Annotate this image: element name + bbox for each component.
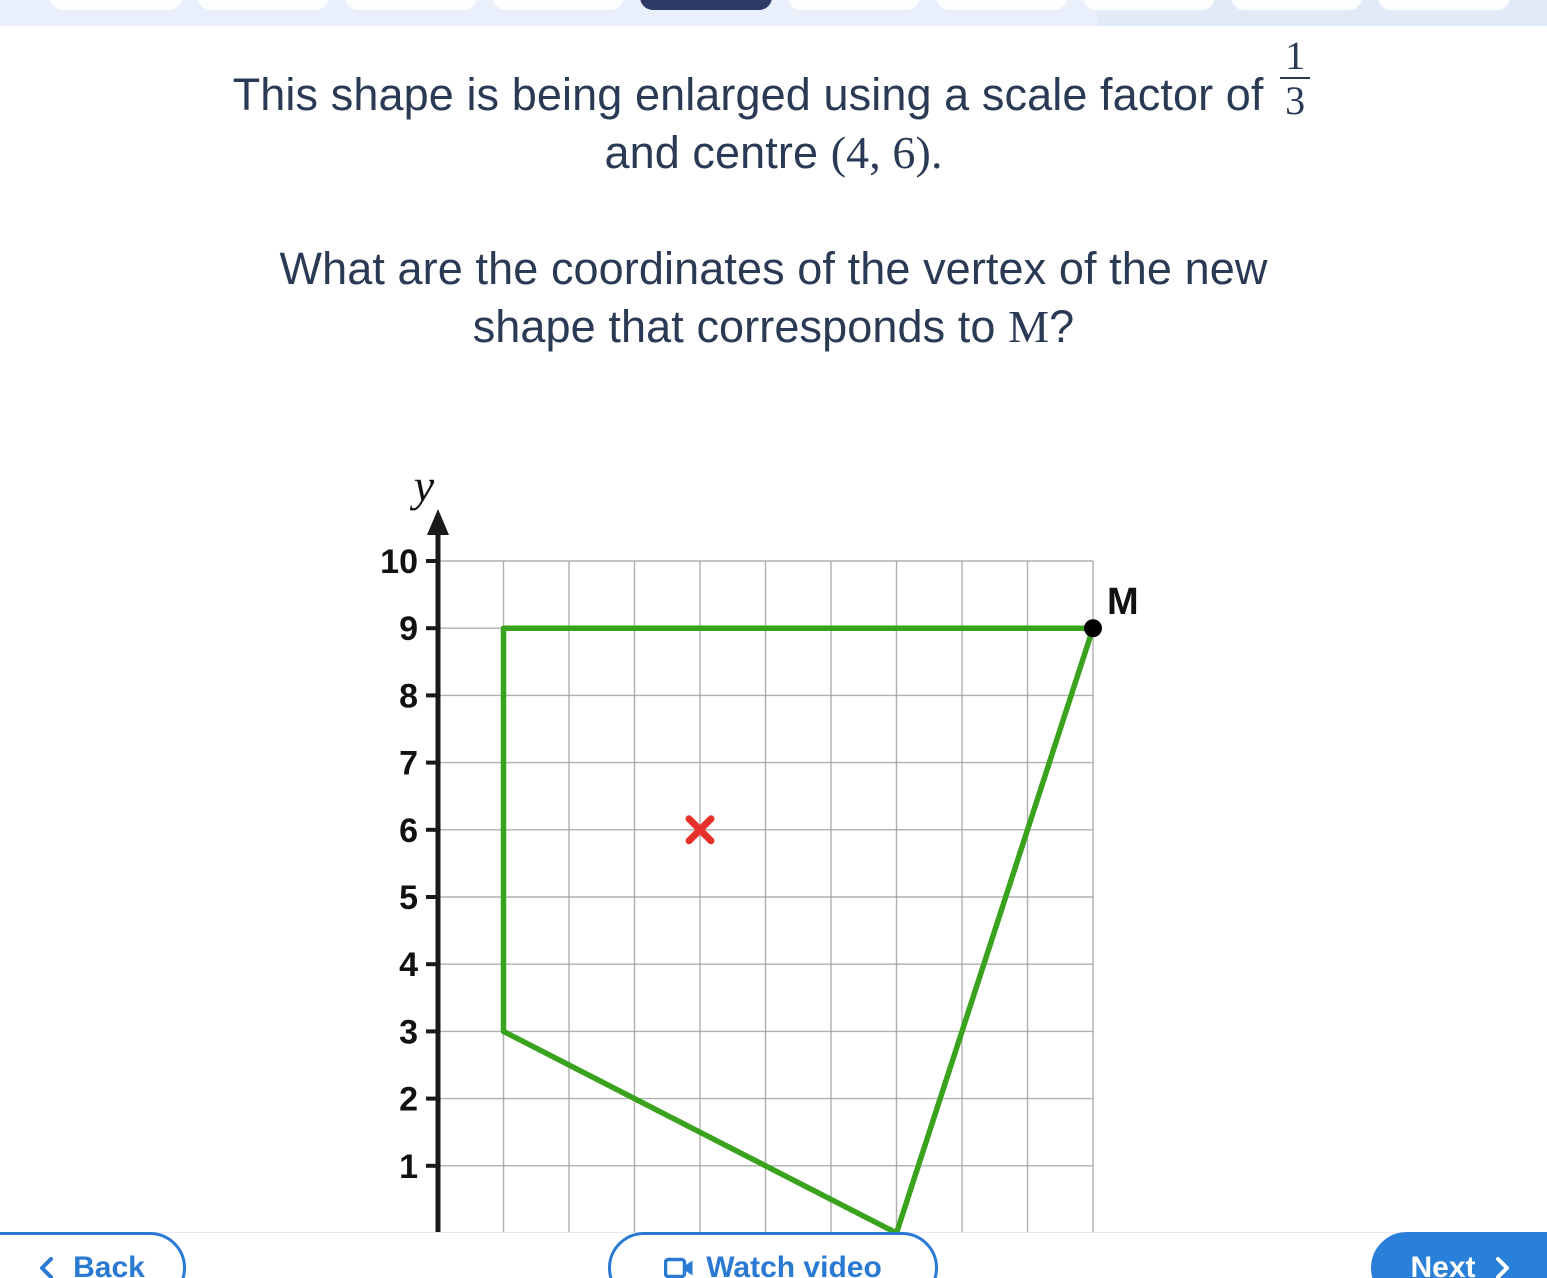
y-tick-label-6: 6 — [399, 812, 418, 850]
progress-pip-1[interactable] — [50, 0, 182, 10]
coordinate-grid-figure: y12345678910M — [0, 470, 1547, 1260]
question-line-4-text: shape that corresponds to — [473, 301, 996, 352]
question-text: This shape is being enlarged using a sca… — [0, 26, 1547, 357]
progress-pip-5[interactable] — [640, 0, 772, 10]
coordinate-grid-svg: y12345678910M — [0, 470, 1547, 1260]
question-line-1: This shape is being enlarged using a sca… — [0, 34, 1547, 124]
watch-video-button[interactable]: Watch video — [608, 1232, 938, 1278]
question-line-4: shape that corresponds to M? — [0, 298, 1547, 357]
progress-strip — [0, 0, 1547, 26]
progress-pip-10[interactable] — [1378, 0, 1510, 10]
fraction-numerator: 1 — [1280, 36, 1310, 79]
y-tick-label-10: 10 — [380, 543, 418, 581]
y-tick-label-2: 2 — [399, 1081, 418, 1119]
y-tick-label-4: 4 — [399, 946, 418, 984]
progress-pip-8[interactable] — [1083, 0, 1215, 10]
y-tick-label-3: 3 — [399, 1013, 418, 1051]
progress-pip-9[interactable] — [1231, 0, 1363, 10]
y-tick-label-7: 7 — [399, 745, 418, 783]
arrow-left-icon — [35, 1255, 61, 1278]
fraction-denominator: 3 — [1280, 79, 1310, 121]
question-screen: This shape is being enlarged using a sca… — [0, 0, 1547, 1278]
watch-video-button-label: Watch video — [706, 1251, 882, 1278]
shape-outline-polygon — [504, 628, 1094, 1233]
progress-pip-2[interactable] — [198, 0, 330, 10]
question-line-2-text: and centre — [604, 127, 818, 178]
arrow-right-icon — [1488, 1255, 1514, 1278]
question-line-1-text: This shape is being enlarged using a sca… — [233, 69, 1264, 120]
y-tick-label-8: 8 — [399, 677, 418, 715]
back-button[interactable]: Back — [0, 1232, 186, 1278]
progress-pip-7[interactable] — [936, 0, 1068, 10]
y-tick-label-5: 5 — [399, 879, 418, 917]
question-mark: ? — [1049, 301, 1074, 352]
next-button[interactable]: Next — [1371, 1232, 1547, 1278]
progress-pip-6[interactable] — [788, 0, 920, 10]
progress-pip-3[interactable] — [345, 0, 477, 10]
progress-pip-4[interactable] — [493, 0, 625, 10]
footer-bar: Back Watch video Next — [0, 1232, 1547, 1278]
y-axis-arrowhead — [427, 509, 449, 535]
y-tick-label-9: 9 — [399, 610, 418, 648]
y-axis-label: y — [410, 470, 435, 511]
next-button-label: Next — [1410, 1251, 1475, 1278]
centre-coordinates: (4, 6). — [831, 127, 943, 178]
scale-factor-fraction: 1 3 — [1280, 36, 1310, 121]
back-button-label: Back — [73, 1251, 145, 1278]
vertex-M-label: M — [1107, 581, 1139, 623]
progress-pip-list — [50, 0, 1510, 10]
vertex-name-label: M — [1008, 301, 1049, 352]
question-line-3: What are the coordinates of the vertex o… — [0, 240, 1547, 298]
vertex-M-marker — [1084, 619, 1102, 637]
y-tick-label-1: 1 — [399, 1148, 418, 1186]
question-line-2: and centre (4, 6). — [0, 124, 1547, 183]
video-camera-icon — [664, 1256, 694, 1278]
